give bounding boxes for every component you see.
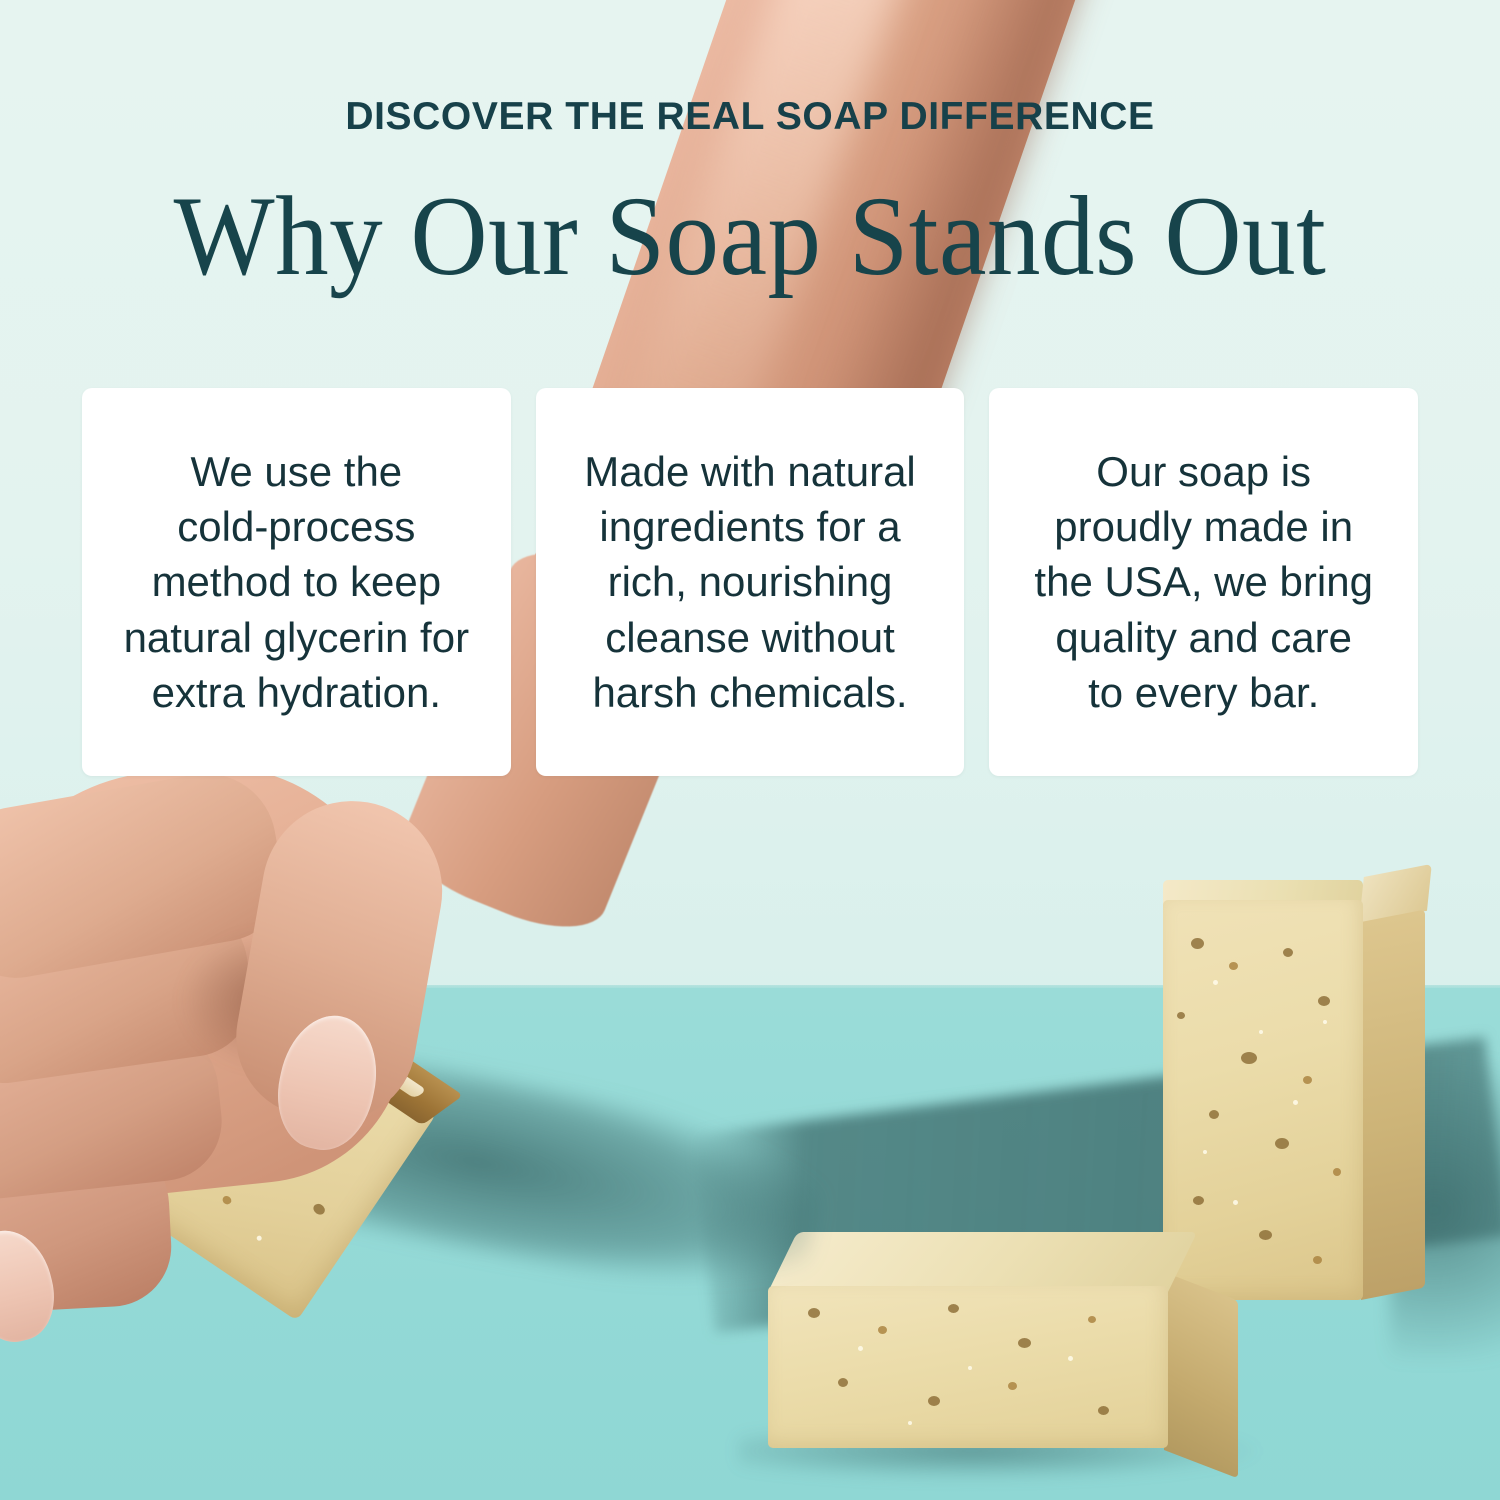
- soap-bar-lying-face: [768, 1286, 1168, 1448]
- hand-holding-soap: [0, 760, 580, 1500]
- benefit-card-text: Our soap is proudly made in the USA, we …: [1034, 444, 1373, 719]
- soap-bar-standing-side: [1361, 910, 1425, 1300]
- soap-bar-lying-top: [768, 1232, 1197, 1292]
- benefit-card-made-in-usa: Our soap is proudly made in the USA, we …: [989, 388, 1418, 776]
- eyebrow-text: DISCOVER THE REAL SOAP DIFFERENCE: [0, 95, 1500, 139]
- page-title: Why Our Soap Stands Out: [0, 172, 1500, 302]
- soap-bar-lying: [768, 1232, 1238, 1447]
- benefit-card-text: Made with natural ingredients for a rich…: [584, 444, 916, 719]
- soap-bar-lying-side: [1164, 1272, 1238, 1478]
- infographic-canvas: DISCOVER THE REAL SOAP DIFFERENCE Why Ou…: [0, 0, 1500, 1500]
- benefit-card-cold-process: We use the cold-process method to keep n…: [82, 388, 511, 776]
- benefit-card-natural-ingredients: Made with natural ingredients for a rich…: [536, 388, 965, 776]
- benefit-cards: We use the cold-process method to keep n…: [82, 388, 1418, 776]
- benefit-card-text: We use the cold-process method to keep n…: [124, 444, 470, 719]
